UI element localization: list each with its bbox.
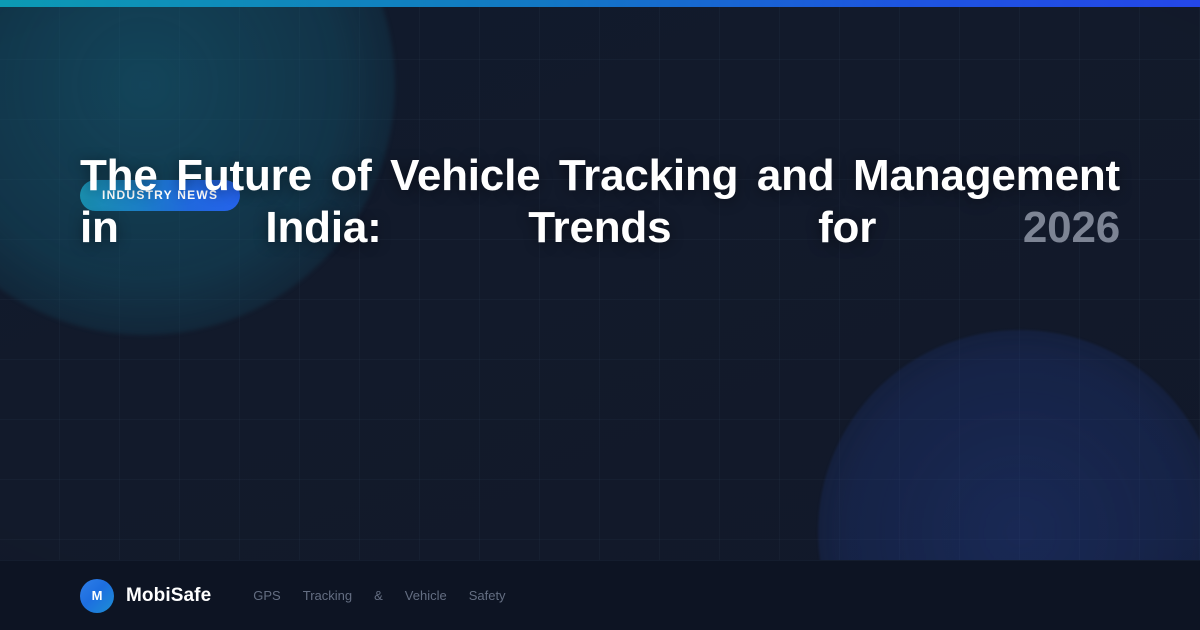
tag-item: GPS — [253, 588, 280, 603]
page-title-year: 2026 — [1023, 203, 1120, 252]
social-share-card: INDUSTRY NEWS The Future of Vehicle Trac… — [0, 0, 1200, 630]
tag-item: Safety — [469, 588, 506, 603]
top-accent-bar — [0, 0, 1200, 7]
tag-list: GPS Tracking & Vehicle Safety — [253, 588, 505, 603]
page-title-text: The Future of Vehicle Tracking and Manag… — [80, 151, 1120, 252]
tag-item: Vehicle — [405, 588, 447, 603]
brand-name: MobiSafe — [126, 585, 211, 607]
card-footer: M MobiSafe GPS Tracking & Vehicle Safety — [0, 560, 1200, 630]
background-vignette — [0, 0, 1200, 630]
tag-item: & — [374, 588, 383, 603]
brand-logo-icon: M — [80, 579, 114, 613]
card-content: INDUSTRY NEWS The Future of Vehicle Trac… — [80, 150, 1120, 254]
tag-item: Tracking — [303, 588, 352, 603]
page-title: The Future of Vehicle Tracking and Manag… — [80, 150, 1120, 254]
